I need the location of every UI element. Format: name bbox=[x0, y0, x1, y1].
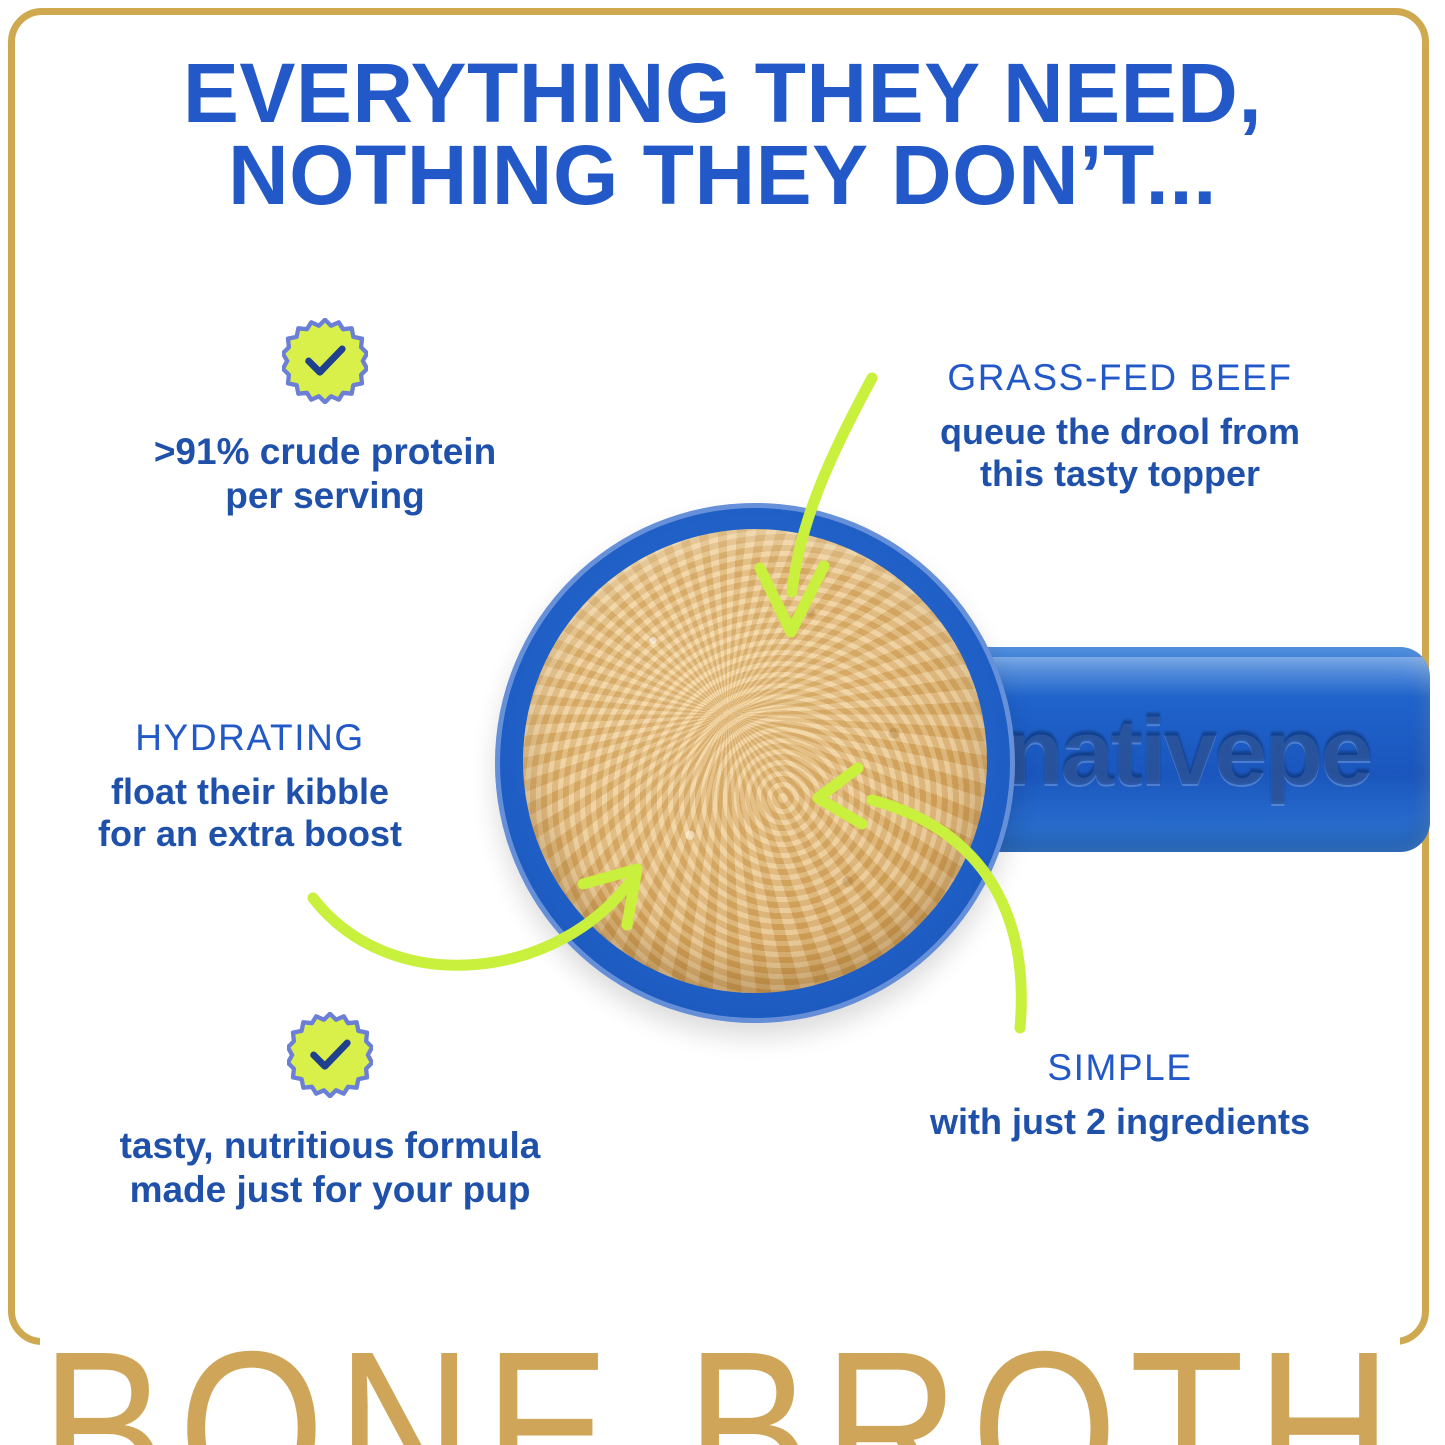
callout-hydrating-line-1: float their kibble bbox=[40, 771, 460, 813]
infographic-canvas: EVERYTHING THEY NEED, NOTHING THEY DON’T… bbox=[0, 0, 1445, 1445]
brand-embossed-text: nativepe bbox=[1005, 697, 1370, 807]
callout-tasty-body: tasty, nutritious formula made just for … bbox=[60, 1124, 600, 1213]
callout-simple-body: with just 2 ingredients bbox=[900, 1101, 1340, 1143]
badge-wrap-tasty bbox=[60, 1012, 600, 1098]
check-badge-icon bbox=[287, 1012, 373, 1098]
callout-protein: >91% crude protein per serving bbox=[75, 318, 575, 519]
badge-wrap-protein bbox=[75, 318, 575, 404]
bottom-banner-wordmark: BONE BROTH bbox=[0, 1318, 1445, 1445]
callout-protein-line-2: per serving bbox=[75, 474, 575, 518]
callout-grass-fed-beef: GRASS-FED BEEF queue the drool from this… bbox=[895, 358, 1345, 496]
callout-tasty-line-1: tasty, nutritious formula bbox=[60, 1124, 600, 1168]
callout-simple: SIMPLE with just 2 ingredients bbox=[900, 1048, 1340, 1143]
callout-beef-line-1: queue the drool from bbox=[895, 411, 1345, 453]
product-scoop-image: nativepe bbox=[455, 495, 1445, 1055]
headline-line-1: EVERYTHING THEY NEED, bbox=[0, 52, 1445, 134]
callout-hydrating-line-2: for an extra boost bbox=[40, 813, 460, 855]
callout-hydrating-body: float their kibble for an extra boost bbox=[40, 771, 460, 856]
callout-simple-line-1: with just 2 ingredients bbox=[900, 1101, 1340, 1143]
callout-beef-title: GRASS-FED BEEF bbox=[895, 358, 1345, 399]
callout-protein-body: >91% crude protein per serving bbox=[75, 430, 575, 519]
callout-beef-line-2: this tasty topper bbox=[895, 453, 1345, 495]
scoop-handle: nativepe bbox=[975, 647, 1430, 852]
handle-highlight bbox=[975, 657, 1430, 697]
page-title: EVERYTHING THEY NEED, NOTHING THEY DON’T… bbox=[0, 52, 1445, 217]
callout-hydrating: HYDRATING float their kibble for an extr… bbox=[40, 718, 460, 856]
callout-simple-title: SIMPLE bbox=[900, 1048, 1340, 1089]
headline-line-2: NOTHING THEY DON’T... bbox=[0, 134, 1445, 216]
callout-protein-line-1: >91% crude protein bbox=[75, 430, 575, 474]
callout-tasty: tasty, nutritious formula made just for … bbox=[60, 1012, 600, 1213]
scoop-rim-highlight bbox=[495, 503, 1015, 1023]
callout-beef-body: queue the drool from this tasty topper bbox=[895, 411, 1345, 496]
callout-hydrating-title: HYDRATING bbox=[40, 718, 460, 759]
check-badge-icon bbox=[282, 318, 368, 404]
callout-tasty-line-2: made just for your pup bbox=[60, 1168, 600, 1212]
